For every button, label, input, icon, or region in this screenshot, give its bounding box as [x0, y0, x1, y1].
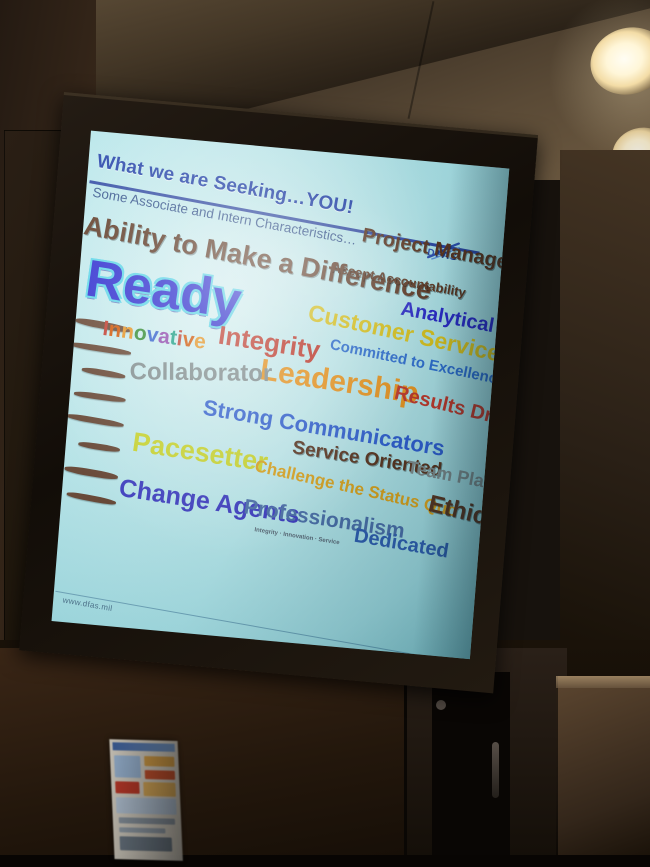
door-lock-plate — [436, 700, 446, 710]
projection-screen: What we are Seeking…YOU! Some Associate … — [52, 131, 510, 659]
wall-right-panel — [556, 676, 650, 856]
poster-shading — [109, 739, 182, 861]
wall-right-panel-edge — [556, 676, 650, 688]
wall-right — [560, 150, 650, 650]
room-photo: What we are Seeking…YOU! Some Associate … — [0, 0, 650, 867]
door-handle[interactable] — [492, 742, 499, 798]
projection-screen-assembly: What we are Seeking…YOU! Some Associate … — [19, 92, 538, 693]
slide-streak-mark — [69, 341, 131, 356]
slide-streak-mark — [81, 366, 125, 379]
word-cloud-term: Pacesetter — [131, 429, 270, 477]
footer-url: www.dfas.mil — [62, 595, 113, 613]
wall-poster — [109, 739, 182, 861]
slide-streak-mark — [78, 441, 120, 453]
slide-streak-mark — [64, 465, 118, 481]
floor — [0, 855, 650, 867]
word-cloud-term: Collaborator — [130, 360, 273, 386]
slide-streak-mark — [66, 413, 124, 429]
slide-streak-mark — [74, 390, 126, 403]
slide-streak-mark — [66, 491, 116, 506]
